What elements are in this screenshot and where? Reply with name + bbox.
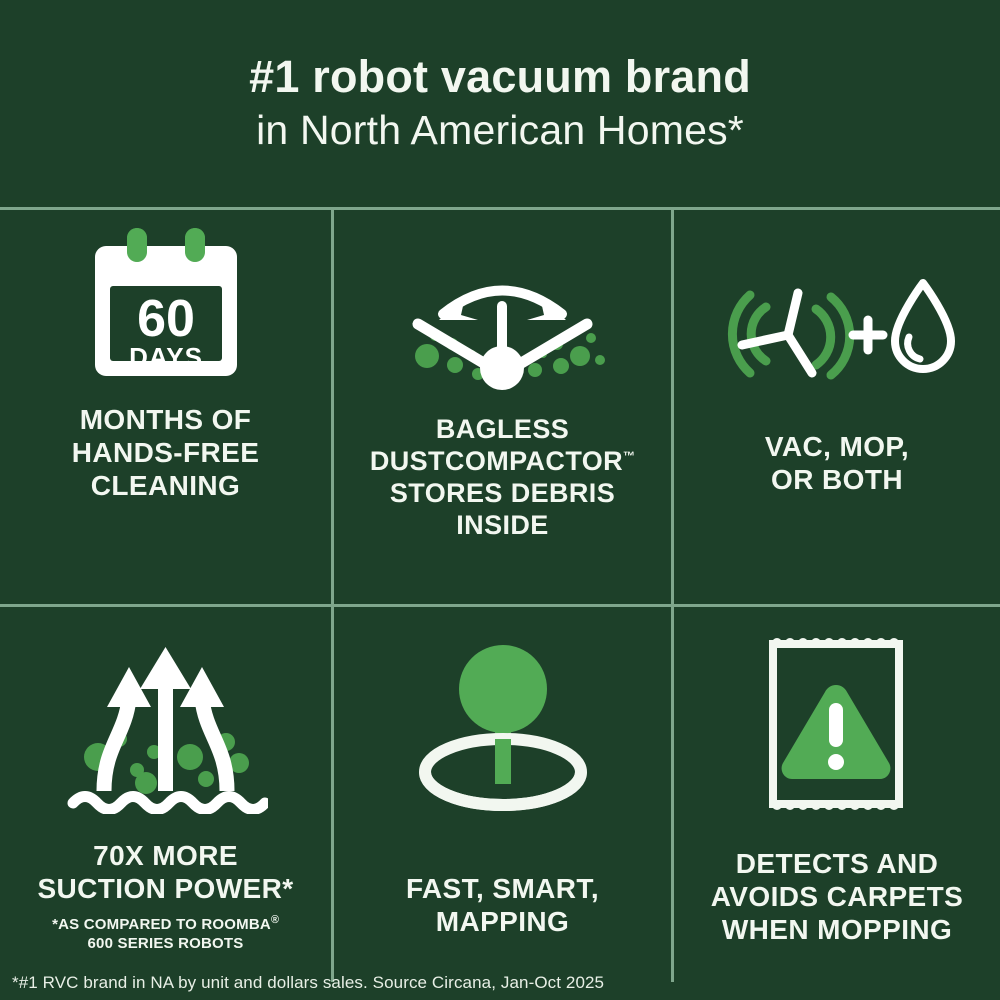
feature-caption: MONTHS OF HANDS-FREE CLEANING [72,403,260,502]
feature-caption: FAST, SMART, MAPPING [406,872,599,938]
vac-mop-icon [720,272,955,392]
feature-caption: DETECTS AND AVOIDS CARPETS WHEN MOPPING [711,847,963,946]
feature-caption: BAGLESSDUSTCOMPACTOR™STORES DEBRISINSIDE [370,414,635,541]
feature-caption: VAC, MOP, OR BOTH [765,430,909,496]
carpet-warning-icon [757,633,917,815]
caption-line-1: 70X MORE [93,840,238,871]
caption-line-1: BAGLESS [436,414,569,444]
feature-cell-hands-free-cleaning: 60 DAYS MONTHS OF HANDS-FREE CLEANING [0,210,331,604]
caption-line-4: INSIDE [456,510,548,540]
feature-subnote: *AS COMPARED TO ROOMBA®600 SERIES ROBOTS [52,914,279,953]
feature-cell-dust-compactor: BAGLESSDUSTCOMPACTOR™STORES DEBRISINSIDE [334,210,671,604]
suction-arrows-icon [63,639,268,814]
caption-line-3: STORES DEBRIS [390,478,615,508]
dust-compactor-icon [395,262,610,392]
caption-line-2: DUSTCOMPACTOR [370,446,623,476]
trademark-symbol: ™ [623,449,635,463]
headline-line-2: in North American Homes* [256,106,744,155]
headline-block: #1 robot vacuum brand in North American … [0,0,1000,207]
feature-cell-suction-power: 70X MORESUCTION POWER* *AS COMPARED TO R… [0,607,331,982]
footnote-text: *#1 RVC brand in NA by unit and dollars … [12,973,604,993]
feature-grid: 60 DAYS MONTHS OF HANDS-FREE CLEANING [0,207,1000,982]
calendar-number: 60 [137,290,195,348]
feature-cell-mapping: FAST, SMART, MAPPING [334,607,671,982]
calendar-60-days-icon: 60 DAYS [81,224,251,389]
subnote-line-2: 600 SERIES ROBOTS [88,935,244,952]
map-pin-icon [398,639,608,814]
robot-vacuum-feature-infographic: #1 robot vacuum brand in North American … [0,0,1000,1000]
calendar-unit: DAYS [129,342,203,372]
subnote-line-1: *AS COMPARED TO ROOMBA [52,916,271,933]
feature-caption: 70X MORESUCTION POWER* [37,839,293,905]
headline-line-1: #1 robot vacuum brand [249,52,751,102]
feature-cell-carpet-detection: DETECTS AND AVOIDS CARPETS WHEN MOPPING [674,607,1000,982]
registered-symbol: ® [271,914,279,926]
caption-line-2: SUCTION POWER* [37,873,293,904]
feature-cell-vac-mop: VAC, MOP, OR BOTH [674,210,1000,604]
